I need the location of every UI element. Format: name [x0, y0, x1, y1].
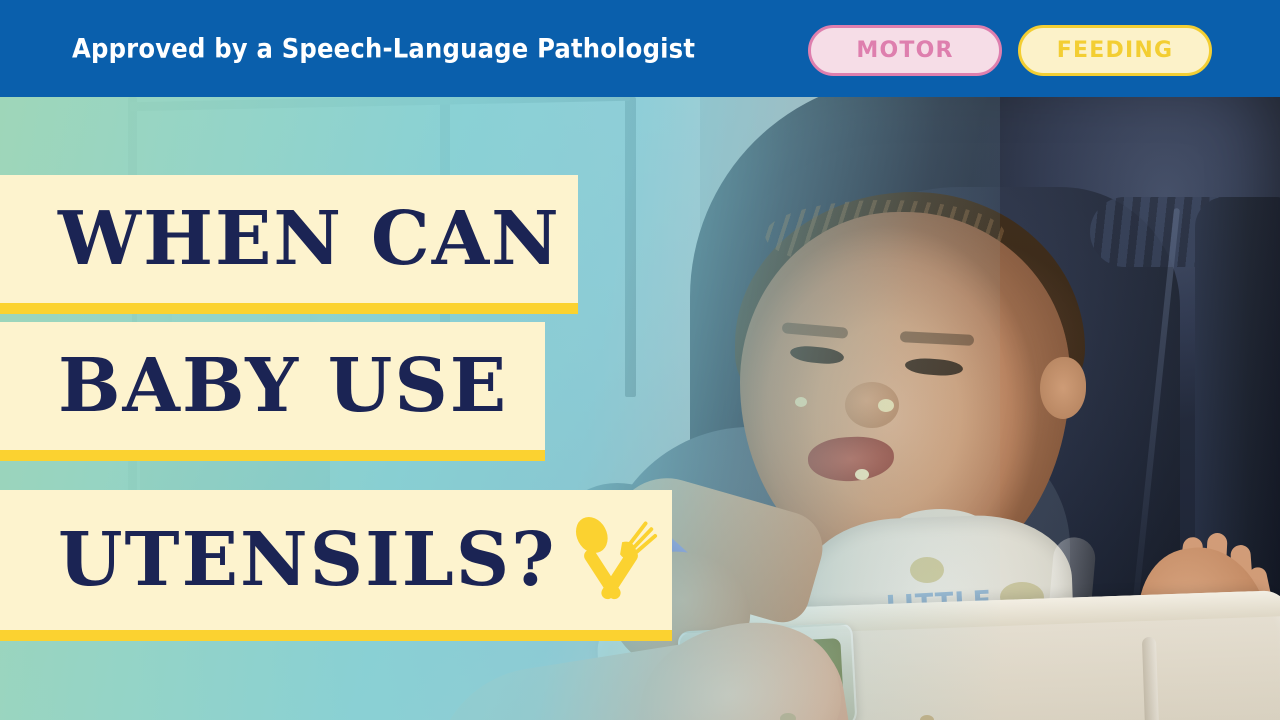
title-line-3-block: UTENSILS?: [0, 490, 672, 641]
food-on-face: [878, 399, 894, 412]
title-line-3-box: UTENSILS?: [0, 490, 672, 630]
baby-ear: [1040, 357, 1086, 419]
food-on-face: [795, 397, 807, 407]
video-thumbnail: LITTLE MAN Approved by a Speech-Language…: [0, 0, 1280, 720]
title-line-1-block: WHEN CAN: [0, 175, 578, 314]
header-bar: Approved by a Speech-Language Pathologis…: [0, 0, 1280, 97]
header-title: Approved by a Speech-Language Pathologis…: [72, 33, 695, 64]
food-crumb: [920, 715, 934, 720]
title-line-2-underline: [0, 450, 545, 461]
title-line-1-text: WHEN CAN: [58, 202, 561, 276]
badge-feeding[interactable]: FEEDING: [1018, 25, 1212, 76]
title-line-1-underline: [0, 303, 578, 314]
title-line-3-underline: [0, 630, 672, 641]
title-line-1-box: WHEN CAN: [0, 175, 578, 303]
shelf-post: [625, 97, 636, 397]
food-crumb: [780, 713, 796, 720]
badge-motor[interactable]: MOTOR: [808, 25, 1002, 76]
crossed-spoon-and-fork-icon: [563, 510, 659, 611]
title-line-2-box: BABY USE: [0, 322, 545, 450]
title-line-2-text: BABY USE: [58, 349, 508, 423]
food-on-face: [855, 469, 869, 480]
bib-stain: [910, 557, 944, 583]
title-line-3-text: UTENSILS?: [58, 523, 557, 597]
title-line-2-block: BABY USE: [0, 322, 545, 461]
